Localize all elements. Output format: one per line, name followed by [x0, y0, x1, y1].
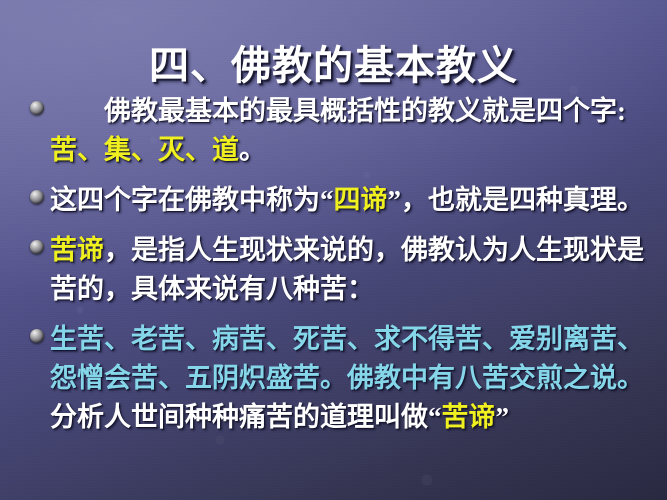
slide-body: 佛教最基本的最具概括性的教义就是四个字:苦、集、灭、道。 这四个字在佛教中称为“…: [28, 92, 653, 448]
presentation-slide: 四、佛教的基本教义 佛教最基本的最具概括性的教义就是四个字:苦、集、灭、道。 这…: [0, 0, 667, 500]
bullet-item-3: 苦谛，是指人生现状来说的，佛教认为人生现状是苦的，具体来说有八种苦：: [28, 231, 653, 309]
text-run-white: ”，也就是四种真理。: [388, 185, 645, 215]
bullet-text-3: 苦谛，是指人生现状来说的，佛教认为人生现状是苦的，具体来说有八种苦：: [50, 231, 653, 309]
sphere-bullet-icon: [30, 329, 44, 343]
text-run-yellow: 苦、集、灭、道: [50, 135, 239, 165]
bullet-text-1: 佛教最基本的最具概括性的教义就是四个字:苦、集、灭、道。: [50, 92, 653, 170]
sphere-bullet-icon: [30, 240, 44, 254]
slide-title: 四、佛教的基本教义: [0, 45, 667, 87]
text-run-white: ，是指人生现状来说的，佛教认为人生现状是苦的，具体来说有八种苦：: [50, 235, 644, 304]
text-run-white: 佛教最基本的最具概括性的教义就是四个字:: [104, 96, 626, 126]
text-run-white: 这四个字在佛教中称为“: [50, 185, 334, 215]
sphere-bullet-icon: [30, 101, 44, 115]
text-run-white: 。: [239, 135, 266, 165]
text-run-yellow: 四谛: [334, 185, 388, 215]
bullet-text-4: 生苦、老苦、病苦、死苦、求不得苦、爱别离苦、怨憎会苦、五阴炽盛苦。佛教中有八苦交…: [50, 320, 653, 437]
text-run-white: 分析人世间种种痛苦的道理叫做“: [50, 402, 442, 432]
text-run-yellow: 苦谛: [50, 235, 104, 265]
bullet-item-2: 这四个字在佛教中称为“四谛”，也就是四种真理。: [28, 181, 653, 220]
bullet-text-2: 这四个字在佛教中称为“四谛”，也就是四种真理。: [50, 181, 653, 220]
sphere-bullet-icon: [30, 190, 44, 204]
text-run-yellow: 苦谛: [442, 402, 496, 432]
bullet-item-4: 生苦、老苦、病苦、死苦、求不得苦、爱别离苦、怨憎会苦、五阴炽盛苦。佛教中有八苦交…: [28, 320, 653, 437]
text-run-white: ”: [496, 402, 510, 432]
bullet-item-1: 佛教最基本的最具概括性的教义就是四个字:苦、集、灭、道。: [28, 92, 653, 170]
text-run-cyan: 生苦、老苦、病苦、死苦、求不得苦、爱别离苦、怨憎会苦、五阴炽盛苦。佛教中有八苦交…: [50, 324, 644, 393]
